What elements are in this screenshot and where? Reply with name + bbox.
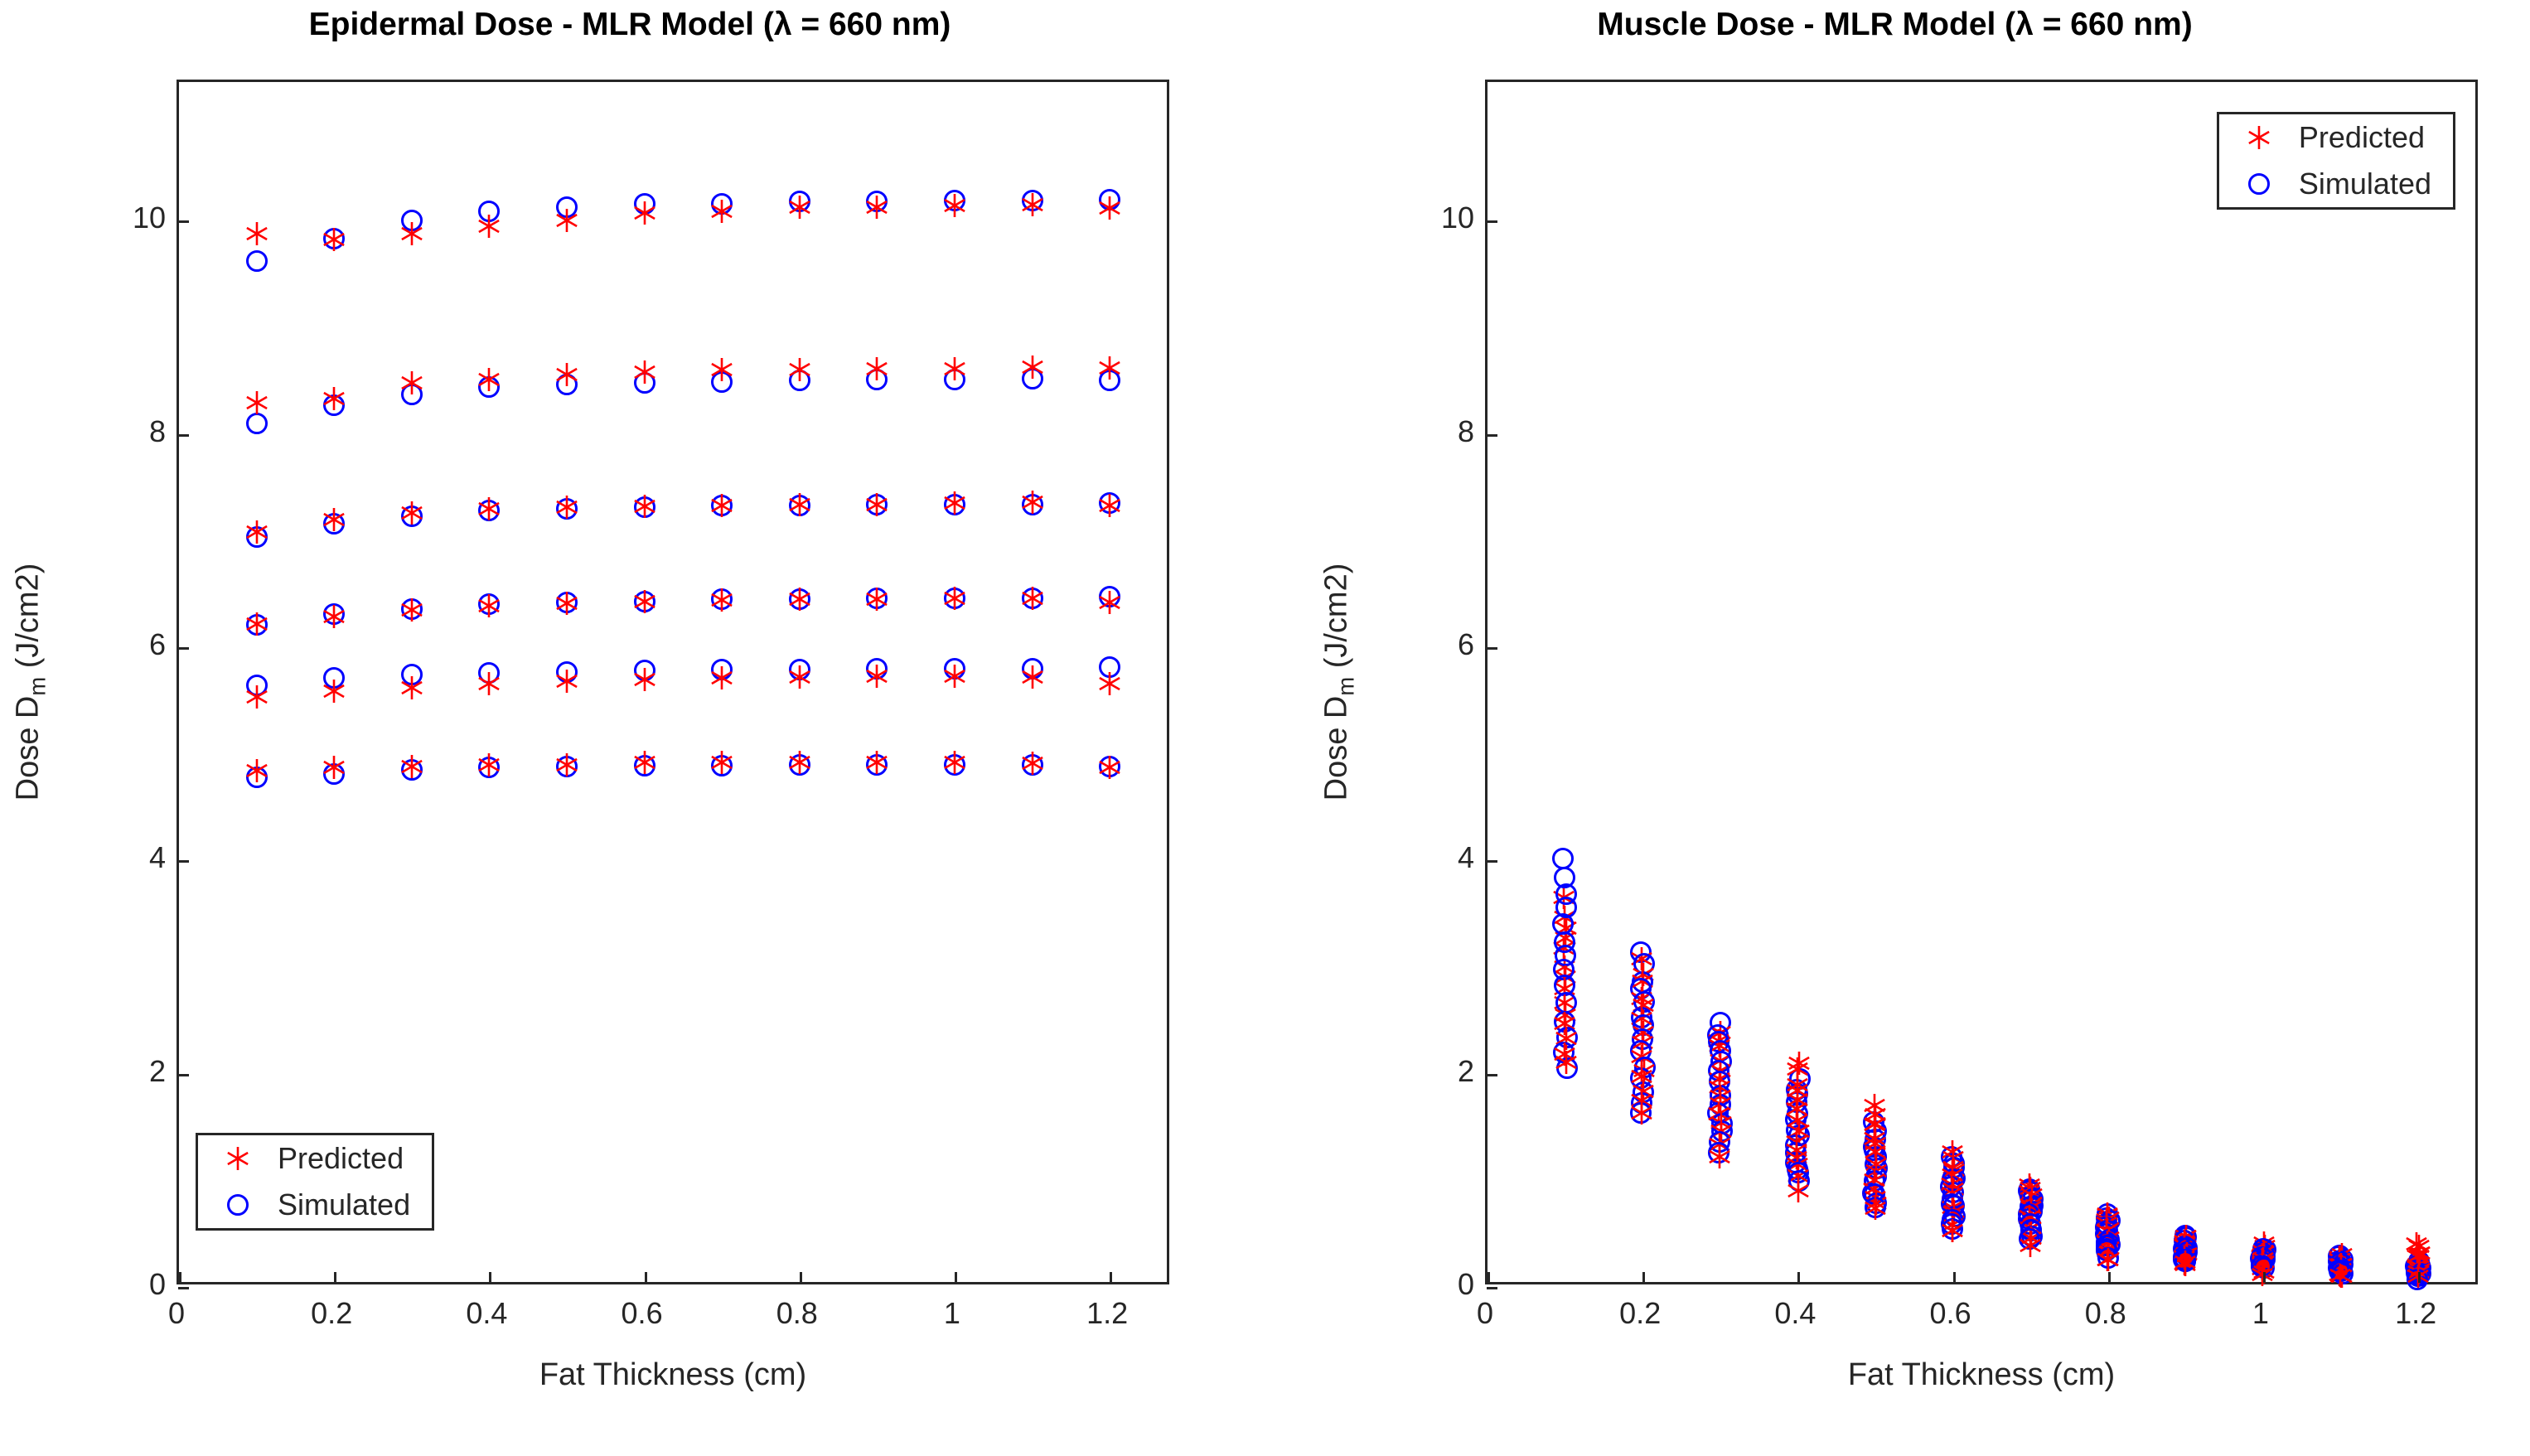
circle-icon — [2219, 161, 2299, 207]
asterisk-icon — [632, 201, 657, 225]
panel-left-legend[interactable]: Predicted Simulated — [196, 1133, 434, 1231]
asterisk-icon — [1097, 493, 1122, 518]
asterisk-icon — [709, 493, 734, 518]
asterisk-icon — [2250, 1262, 2275, 1287]
asterisk-icon — [476, 593, 501, 618]
asterisk-icon — [942, 193, 967, 218]
y-tick-label: 0 — [1429, 1267, 1474, 1302]
y-tick-mark — [1487, 1074, 1497, 1076]
y-tick-mark — [178, 647, 189, 650]
y-tick-mark — [178, 220, 189, 223]
asterisk-icon — [787, 750, 812, 775]
asterisk-icon — [322, 679, 346, 704]
panel-left-title: Epidermal Dose - MLR Model (λ = 660 nm) — [0, 7, 1260, 43]
asterisk-icon — [1863, 1196, 1888, 1221]
asterisk-icon — [476, 752, 501, 777]
asterisk-icon — [632, 750, 657, 775]
x-tick-label: 0 — [1477, 1296, 1493, 1331]
asterisk-icon — [787, 665, 812, 689]
y-tick-mark — [1487, 647, 1497, 650]
asterisk-icon — [476, 367, 501, 392]
x-tick-mark — [2418, 1272, 2421, 1283]
x-tick-label: 0.4 — [466, 1296, 507, 1331]
y-axis-label-main: Dose D — [10, 696, 45, 801]
figure-canvas: Epidermal Dose - MLR Model (λ = 660 nm) … — [0, 0, 2530, 1456]
asterisk-icon — [244, 758, 269, 783]
asterisk-icon — [864, 587, 889, 612]
asterisk-icon — [2328, 1263, 2353, 1288]
asterisk-icon — [942, 356, 967, 381]
legend-item-predicted[interactable]: Predicted — [198, 1135, 432, 1182]
x-tick-label: 1.2 — [1086, 1296, 1128, 1331]
x-tick-mark — [2108, 1272, 2111, 1283]
asterisk-icon — [709, 750, 734, 775]
y-axis-label-units: (J/cm2) — [1318, 564, 1353, 677]
x-tick-mark — [1488, 1272, 1490, 1283]
y-tick-label: 10 — [120, 201, 166, 235]
asterisk-icon — [244, 390, 269, 415]
asterisk-icon — [1097, 590, 1122, 615]
asterisk-icon — [1020, 586, 1045, 611]
y-axis-label-main: Dose D — [1318, 696, 1353, 801]
x-tick-mark — [645, 1272, 647, 1283]
asterisk-icon — [942, 664, 967, 689]
legend-label-simulated: Simulated — [2299, 167, 2453, 201]
y-tick-label: 6 — [1429, 627, 1474, 662]
panel-right-y-axis-label: Dose Dm (J/cm2) — [1318, 564, 1359, 801]
asterisk-icon — [2173, 1250, 2198, 1275]
asterisk-icon — [554, 591, 579, 616]
asterisk-icon — [399, 370, 424, 395]
circle-icon — [246, 413, 268, 434]
asterisk-icon — [787, 195, 812, 220]
asterisk-icon — [322, 507, 346, 532]
asterisk-icon — [554, 669, 579, 694]
y-tick-mark — [1487, 1287, 1497, 1289]
y-tick-label: 4 — [120, 840, 166, 875]
asterisk-icon — [632, 494, 657, 519]
asterisk-icon — [1020, 490, 1045, 515]
y-tick-label: 8 — [1429, 414, 1474, 449]
x-tick-label: 0 — [168, 1296, 185, 1331]
legend-label-simulated: Simulated — [278, 1188, 432, 1222]
y-tick-label: 4 — [1429, 840, 1474, 875]
x-tick-label: 0.6 — [622, 1296, 663, 1331]
asterisk-icon — [476, 671, 501, 696]
asterisk-icon — [1786, 1178, 1811, 1203]
asterisk-icon — [709, 665, 734, 690]
asterisk-icon — [399, 754, 424, 779]
x-tick-mark — [1953, 1272, 1956, 1283]
y-tick-label: 2 — [120, 1054, 166, 1089]
panel-right-data-layer — [1488, 82, 2475, 1282]
asterisk-icon — [709, 588, 734, 612]
x-tick-mark — [334, 1272, 336, 1283]
legend-item-simulated[interactable]: Simulated — [198, 1182, 432, 1228]
asterisk-icon — [399, 675, 424, 700]
x-tick-mark — [2263, 1272, 2266, 1283]
asterisk-icon — [1097, 671, 1122, 696]
asterisk-icon — [322, 604, 346, 629]
legend-label-predicted: Predicted — [278, 1141, 425, 1176]
asterisk-icon — [1097, 755, 1122, 780]
panel-left-plot-area[interactable]: Predicted Simulated — [177, 80, 1169, 1284]
asterisk-icon — [787, 492, 812, 517]
y-tick-mark — [1487, 434, 1497, 437]
asterisk-icon — [554, 752, 579, 777]
x-tick-label: 0.2 — [1619, 1296, 1661, 1331]
y-tick-label: 10 — [1429, 201, 1474, 235]
asterisk-icon — [198, 1135, 278, 1182]
legend-item-predicted[interactable]: Predicted — [2219, 114, 2453, 161]
asterisk-icon — [1554, 1050, 1579, 1075]
y-tick-label: 6 — [120, 627, 166, 662]
asterisk-icon — [787, 587, 812, 612]
legend-item-simulated[interactable]: Simulated — [2219, 161, 2453, 207]
x-tick-label: 0.8 — [776, 1296, 818, 1331]
panel-right-legend[interactable]: Predicted Simulated — [2217, 112, 2455, 210]
y-tick-mark — [178, 434, 189, 437]
asterisk-icon — [1707, 1144, 1732, 1169]
y-axis-label-subscript: m — [25, 677, 51, 696]
y-axis-label-units: (J/cm2) — [10, 564, 45, 677]
y-axis-label-subscript: m — [1333, 677, 1359, 696]
x-tick-mark — [1642, 1272, 1645, 1283]
asterisk-icon — [942, 750, 967, 775]
asterisk-icon — [554, 495, 579, 520]
asterisk-icon — [864, 664, 889, 689]
asterisk-icon — [1020, 665, 1045, 689]
x-tick-mark — [1110, 1272, 1112, 1283]
asterisk-icon — [2096, 1247, 2121, 1272]
asterisk-icon — [554, 362, 579, 387]
asterisk-icon — [476, 214, 501, 239]
asterisk-icon — [1020, 751, 1045, 776]
asterisk-icon — [399, 221, 424, 246]
x-tick-mark — [489, 1272, 491, 1283]
y-tick-label: 8 — [120, 414, 166, 449]
x-tick-label: 0.2 — [311, 1296, 352, 1331]
asterisk-icon — [1097, 196, 1122, 220]
asterisk-icon — [1629, 1100, 1654, 1125]
asterisk-icon — [632, 589, 657, 614]
x-tick-label: 0.6 — [1930, 1296, 1971, 1331]
x-tick-label: 0.8 — [2085, 1296, 2126, 1331]
asterisk-icon — [864, 356, 889, 381]
panel-right-plot-area[interactable]: Predicted Simulated — [1485, 80, 2478, 1284]
x-tick-mark — [179, 1272, 181, 1283]
asterisk-icon — [1020, 355, 1045, 380]
x-tick-label: 1.2 — [2395, 1296, 2436, 1331]
asterisk-icon — [244, 612, 269, 636]
asterisk-icon — [1020, 192, 1045, 217]
x-tick-mark — [800, 1272, 802, 1283]
x-tick-label: 1 — [2252, 1296, 2269, 1331]
circle-icon — [246, 250, 268, 272]
asterisk-icon — [2219, 114, 2299, 161]
asterisk-icon — [2018, 1233, 2043, 1258]
asterisk-icon — [632, 360, 657, 385]
asterisk-icon — [322, 386, 346, 411]
asterisk-icon — [399, 597, 424, 622]
y-tick-mark — [1487, 860, 1497, 863]
circle-icon — [198, 1182, 278, 1228]
asterisk-icon — [244, 221, 269, 246]
asterisk-icon — [399, 501, 424, 525]
asterisk-icon — [632, 667, 657, 692]
y-tick-label: 0 — [120, 1267, 166, 1302]
asterisk-icon — [709, 357, 734, 382]
asterisk-icon — [709, 199, 734, 224]
panel-right-x-axis-label: Fat Thickness (cm) — [1848, 1357, 2115, 1393]
asterisk-icon — [864, 195, 889, 220]
asterisk-icon — [942, 491, 967, 515]
panel-left-data-layer — [179, 82, 1167, 1282]
asterisk-icon — [787, 357, 812, 382]
x-tick-mark — [1797, 1272, 1800, 1283]
y-tick-mark — [178, 860, 189, 863]
asterisk-icon — [554, 208, 579, 233]
x-tick-label: 0.4 — [1774, 1296, 1816, 1331]
asterisk-icon — [476, 496, 501, 521]
legend-label-predicted: Predicted — [2299, 120, 2446, 155]
asterisk-icon — [322, 755, 346, 780]
asterisk-icon — [864, 750, 889, 775]
y-tick-mark — [178, 1287, 189, 1289]
asterisk-icon — [1097, 356, 1122, 380]
asterisk-icon — [244, 520, 269, 544]
y-tick-mark — [1487, 220, 1497, 223]
x-tick-mark — [955, 1272, 957, 1283]
panel-right-title: Muscle Dose - MLR Model (λ = 660 nm) — [1260, 7, 2530, 43]
panel-epidermal-dose: Epidermal Dose - MLR Model (λ = 660 nm) … — [0, 0, 1260, 1456]
asterisk-icon — [244, 684, 269, 709]
x-tick-label: 1 — [944, 1296, 960, 1331]
panel-muscle-dose: Muscle Dose - MLR Model (λ = 660 nm) Dos… — [1260, 0, 2530, 1456]
asterisk-icon — [864, 492, 889, 517]
asterisk-icon — [942, 586, 967, 611]
panel-left-y-axis-label: Dose Dm (J/cm2) — [10, 564, 51, 801]
asterisk-icon — [1940, 1218, 1965, 1243]
panel-left-x-axis-label: Fat Thickness (cm) — [539, 1357, 806, 1393]
y-tick-label: 2 — [1429, 1054, 1474, 1089]
y-tick-mark — [178, 1074, 189, 1076]
asterisk-icon — [322, 227, 346, 252]
